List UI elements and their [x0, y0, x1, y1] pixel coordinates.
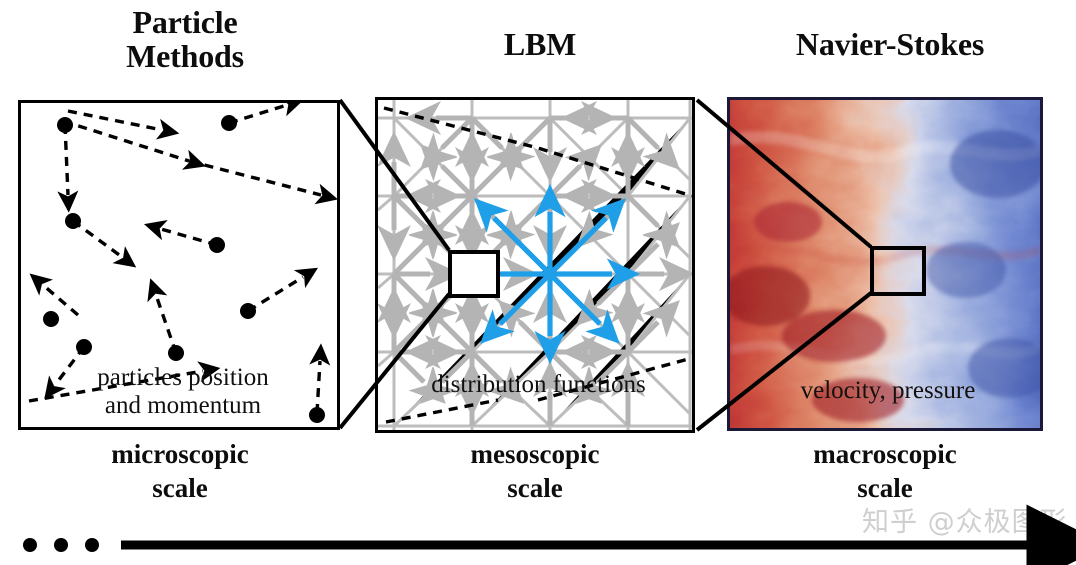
axis-leading-dots — [23, 538, 99, 552]
caption-microscopic: particles position and momentum — [33, 364, 333, 422]
panel-microscopic[interactable]: particles position and momentum — [18, 100, 340, 430]
scale-label-mesoscopic-line1: mesoscopic — [390, 438, 680, 472]
scale-label-microscopic-line1: microscopic — [35, 438, 325, 472]
panel-title-particle-methods-line2: Methods — [40, 40, 330, 74]
scale-label-macroscopic: macroscopic scale — [740, 438, 1030, 506]
scale-label-microscopic-line2: scale — [35, 472, 325, 506]
caption-macroscopic: velocity, pressure — [730, 377, 1043, 406]
panel-mesoscopic[interactable]: distribution functions — [375, 97, 695, 433]
d2q9-distribution-arrows — [488, 212, 612, 336]
scale-label-mesoscopic: mesoscopic scale — [390, 438, 680, 506]
caption-microscopic-line1: particles position — [33, 364, 333, 393]
scale-label-macroscopic-line1: macroscopic — [740, 438, 1030, 472]
watermark-text: 知乎 @众极图形 — [862, 500, 1068, 539]
panel-title-particle-methods-line1: Particle — [40, 6, 330, 40]
caption-macroscopic-line1: velocity, pressure — [730, 377, 1043, 406]
scale-label-macroscopic-line2: scale — [740, 472, 1030, 506]
zoom-inset-box-mesoscopic[interactable] — [450, 252, 498, 296]
panel-title-navier-stokes: Navier-Stokes — [740, 28, 1040, 62]
caption-microscopic-line2: and momentum — [33, 392, 333, 421]
caption-mesoscopic: distribution functions — [386, 371, 691, 400]
panel-macroscopic[interactable]: velocity, pressure — [727, 97, 1043, 431]
scale-label-microscopic: microscopic scale — [35, 438, 325, 506]
scale-label-mesoscopic-line2: scale — [390, 472, 680, 506]
diagram-canvas: Particle Methods LBM Navier-Stokes — [0, 0, 1076, 565]
panel-title-particle-methods: Particle Methods — [40, 6, 330, 74]
panel-title-lbm: LBM — [400, 28, 680, 62]
caption-mesoscopic-line1: distribution functions — [386, 371, 691, 400]
